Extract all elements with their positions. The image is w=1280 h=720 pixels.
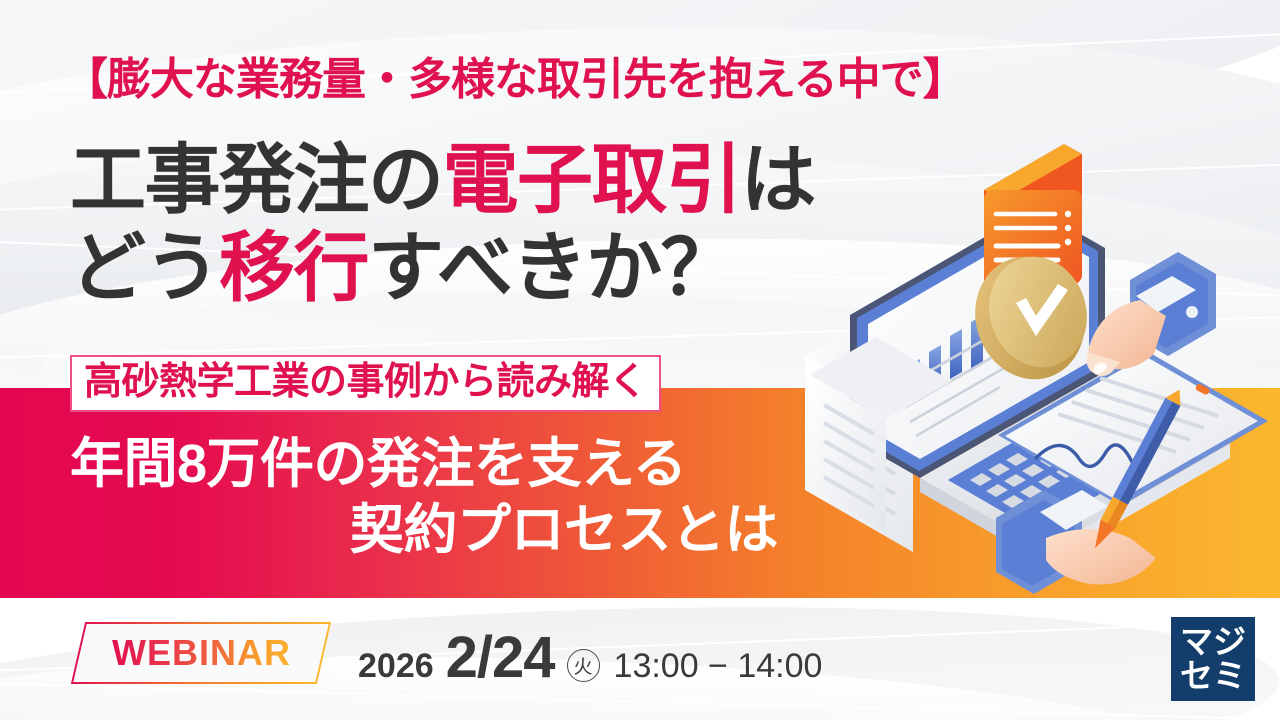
kicker-text: 【膨大な業務量・多様な取引先を抱える中で】 [64, 58, 966, 102]
headline-line-1: 工事発注の電子取引は [70, 142, 815, 220]
headline-line2-part1: どう [70, 226, 219, 311]
subtitle-text: 高砂熱学工業の事例から読み解く [84, 362, 647, 403]
webinar-banner: 【膨大な業務量・多様な取引先を抱える中で】 工事発注の電子取引は どう移行すべき… [0, 0, 1280, 720]
webinar-badge: WEBINAR [71, 622, 331, 684]
headline-line1-accent: 電子取引 [443, 138, 741, 223]
event-date: 2/24 [446, 624, 555, 691]
contract-signing-illustration [800, 140, 1280, 610]
band-line-2: 契約プロセスとは [70, 498, 790, 564]
headline-line1-part1: 工事発注の [70, 138, 443, 223]
subtitle-box: 高砂熱学工業の事例から読み解く [70, 355, 661, 412]
headline-line2-part2: すべきか？ [368, 226, 735, 311]
webinar-label: WEBINAR [112, 632, 291, 674]
event-year: 2026 [358, 647, 434, 686]
headline-line2-accent: 移行 [219, 226, 368, 311]
event-time: 13:00 − 14:00 [614, 647, 823, 686]
band-line-1: 年間8万件の発注を支える [70, 432, 790, 498]
logo-line-2: セミ [1180, 659, 1246, 693]
majisemi-logo: マジ セミ [1171, 617, 1255, 701]
band-subtitle: 年間8万件の発注を支える 契約プロセスとは [70, 432, 790, 564]
page-title: 工事発注の電子取引は どう移行すべきか？ [70, 142, 815, 307]
headline-line1-part2: は [741, 138, 816, 223]
event-datetime: 2026 2/24 火 13:00 − 14:00 [358, 624, 822, 686]
headline-line-2: どう移行すべきか？ [70, 230, 815, 308]
event-day-of-week: 火 [567, 649, 600, 682]
logo-line-1: マジ [1180, 625, 1246, 659]
